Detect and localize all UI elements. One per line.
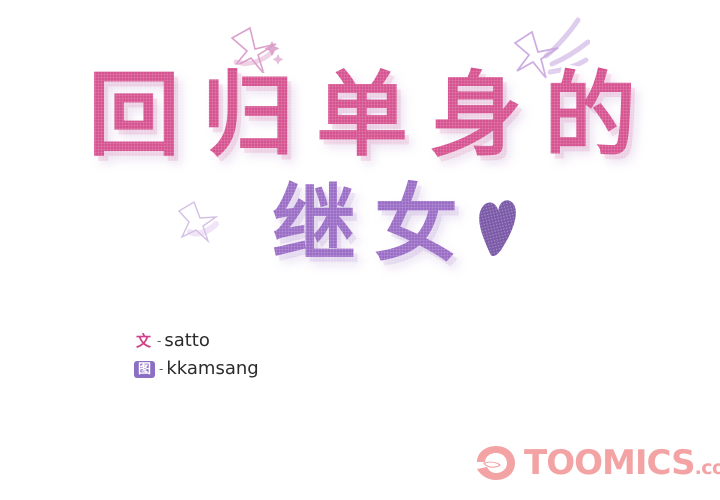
title-char: 女	[374, 182, 458, 266]
toomics-wordmark: TOOMICS.com	[524, 446, 720, 480]
credit-dash: -	[157, 361, 164, 378]
toomics-logo[interactable]: TOOMICS.com	[474, 443, 720, 483]
heart-icon	[471, 192, 526, 260]
credit-row-writer: 文 - satto	[134, 327, 259, 355]
halftone-texture	[316, 70, 408, 162]
toomics-suffix: .com	[695, 457, 720, 479]
toomics-name: TOOMICS	[524, 443, 695, 483]
toomics-mascot-icon	[474, 443, 518, 483]
credit-dash: -	[155, 333, 162, 350]
title-line-secondary: 继 女	[272, 182, 458, 266]
title-char: 继	[272, 182, 356, 266]
comic-cover-page: 回 归 单 身 的 继 女 文 - satto 图 -	[0, 0, 720, 500]
artist-role-glyph: 图	[134, 361, 155, 378]
title-char: 归	[202, 70, 294, 162]
title-char: 身	[430, 70, 522, 162]
halftone-texture	[272, 182, 356, 266]
halftone-texture	[202, 70, 294, 162]
writer-name: satto	[164, 332, 210, 350]
title-char: 的	[544, 70, 636, 162]
halftone-texture	[88, 70, 180, 162]
credit-row-artist: 图 - kkamsang	[134, 355, 259, 383]
halftone-texture	[430, 70, 522, 162]
halftone-texture	[544, 70, 636, 162]
title-char: 回	[88, 70, 180, 162]
writer-role-glyph: 文	[134, 334, 153, 349]
credits-block: 文 - satto 图 - kkamsang	[134, 327, 259, 383]
title-line-primary: 回 归 单 身 的	[88, 70, 636, 162]
outline-star-icon	[176, 198, 224, 244]
title-char: 单	[316, 70, 408, 162]
artist-name: kkamsang	[166, 360, 258, 378]
halftone-texture	[374, 182, 458, 266]
